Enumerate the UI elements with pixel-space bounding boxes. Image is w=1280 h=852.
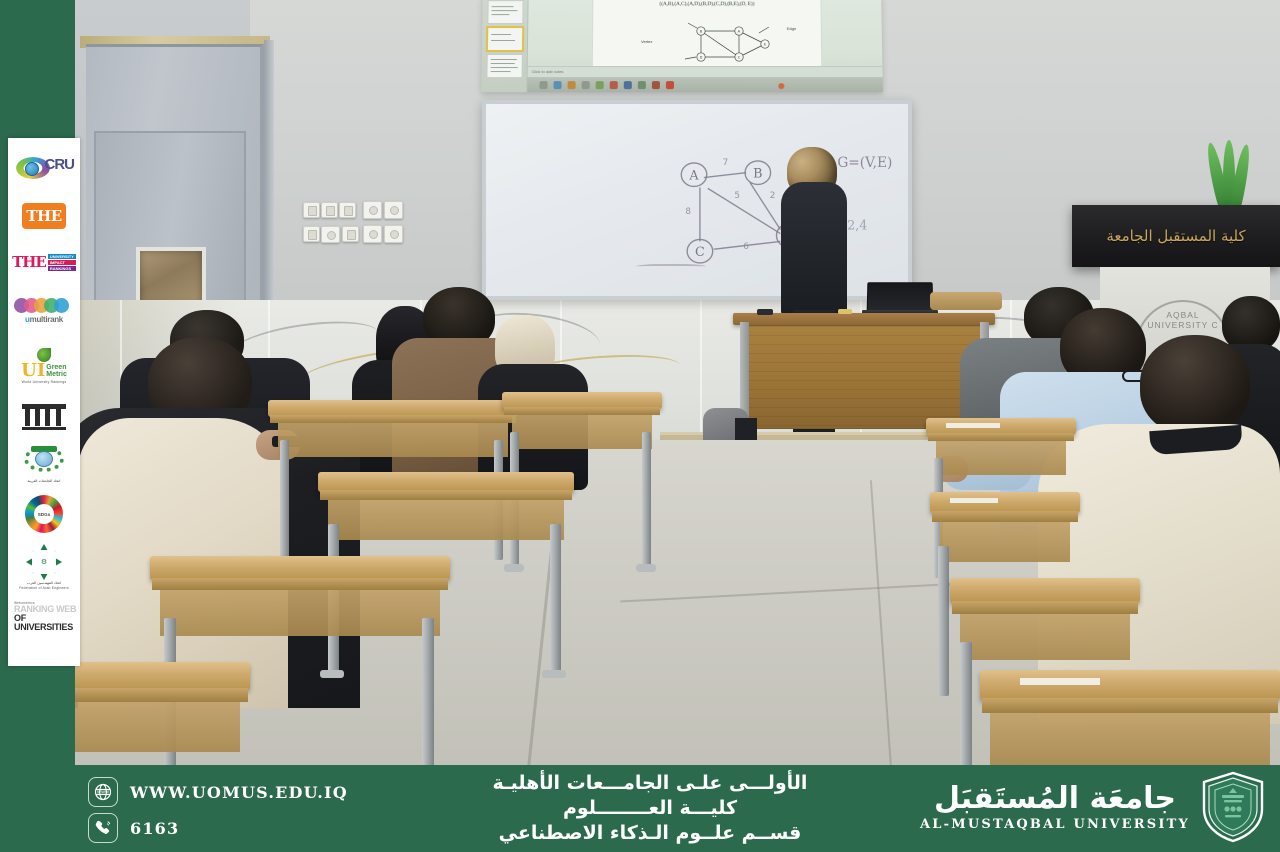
footer-phone-row[interactable]: 6163 [88, 813, 418, 843]
svg-text:8: 8 [685, 207, 691, 217]
sdg-wheel-logo: SDGs [10, 490, 78, 538]
svg-text:5: 5 [734, 191, 740, 201]
svg-text:6: 6 [743, 242, 749, 252]
desk-foot [636, 564, 656, 572]
instructor-torso [781, 182, 847, 317]
phone-icon [88, 813, 118, 843]
power-outlet-1[interactable] [363, 201, 382, 219]
desk-foot [320, 670, 344, 678]
student-desk[interactable] [502, 392, 662, 452]
student-desk[interactable] [318, 472, 574, 538]
desk-label-sticker [1020, 678, 1100, 685]
desk-leg [550, 524, 561, 674]
tagline-line-2: كليـــة العــــــــلوم [400, 796, 900, 821]
footer-banner: www WWW.UOMUS.EDU.IQ 6163 الأولـــى علـى… [0, 765, 1280, 852]
student-desk[interactable] [980, 670, 1280, 765]
power-outlet-5[interactable] [384, 225, 403, 243]
desk-top [150, 556, 450, 580]
svg-text:C: C [695, 245, 705, 260]
desk-apron [990, 713, 1270, 765]
slide-thumbnail[interactable] [487, 0, 523, 24]
student-desk[interactable] [268, 400, 518, 460]
desk-top [980, 670, 1280, 700]
desk-leg [280, 440, 289, 560]
desk-top [950, 578, 1140, 603]
desk-leg [938, 546, 949, 696]
svg-text:B: B [753, 167, 762, 182]
desk-apron [936, 441, 1066, 475]
marker-pen[interactable] [757, 309, 773, 315]
taskbar-icon[interactable] [652, 81, 660, 89]
powerpoint-status-bar: Click to add notes [528, 66, 883, 77]
u-multirank-logo: umultirank [10, 286, 78, 336]
svg-text:www: www [97, 790, 109, 796]
student-desk[interactable] [926, 418, 1076, 478]
svg-text:A: A [688, 169, 699, 184]
university-shield-icon [1200, 771, 1266, 843]
greenmetric-green-label: Green [46, 364, 67, 371]
svg-text:2: 2 [770, 191, 776, 201]
the-label: THE [26, 207, 61, 225]
desk-apron [512, 415, 652, 449]
power-outlet-3[interactable] [321, 226, 340, 243]
light-switch-plate-5[interactable] [342, 226, 359, 242]
federation-of-arab-engineers-logo: ⚙ اتحاد المهندسين العرب Federation of Ar… [10, 540, 78, 594]
brand-text-block: جامعَة المُستَقبَل AL-MUSTAQBAL UNIVERSI… [920, 782, 1190, 832]
columns-icon [22, 402, 66, 430]
desk-label-sticker [950, 498, 998, 503]
svg-text:2,4: 2,4 [847, 219, 867, 234]
podium-sign-text: كلية المستقبل الجامعة [1072, 205, 1280, 267]
slide-vertex-label: Vertex [641, 39, 652, 44]
wreath-globe-icon [22, 444, 66, 478]
current-slide: {(A,B),(A,C),(A,D),(B,D),(C,D),(B,E),(D,… [592, 0, 823, 72]
multirank-name: multirank [30, 315, 63, 324]
taskbar-icon[interactable] [624, 81, 632, 89]
tagline-line-3: قســم علــوم الـذكاء الاصطناعي [400, 821, 900, 846]
student-head [1140, 335, 1250, 435]
desk-apron [278, 423, 508, 457]
the-badge-icon: THE [22, 203, 66, 229]
slide-graph-diagram: BA DC E [593, 13, 824, 71]
svg-text:D: D [700, 55, 703, 59]
impact-line-2: IMPACT [48, 260, 76, 265]
taskbar-icon[interactable] [539, 81, 547, 89]
desk-leg [960, 642, 972, 765]
brand-name-arabic: جامعَة المُستَقبَل [920, 782, 1190, 816]
projector-screen: {(A,B),(A,C),(A,D),(B,D),(C,D),(B,E),(D,… [481, 0, 883, 92]
student-desk[interactable] [950, 578, 1140, 654]
desk-edge [928, 433, 1074, 441]
ui-greenmetric-logo: UI Green Metric World University Ranking… [10, 338, 78, 394]
podium-sign-board: كلية المستقبل الجامعة [1072, 205, 1280, 267]
student-desk[interactable] [930, 492, 1080, 558]
phone-label[interactable]: 6163 [130, 819, 179, 838]
taskbar-icon[interactable] [596, 81, 604, 89]
arab-engineers-label-ar: اتحاد المهندسين العرب [27, 581, 61, 585]
desk-top [318, 472, 574, 492]
instructor-desk-front [742, 325, 986, 429]
sdg-wheel-icon: SDGs [25, 495, 63, 533]
student-desk[interactable] [150, 556, 450, 630]
desk-label-sticker [946, 423, 1000, 428]
classroom-door[interactable] [86, 44, 264, 344]
desk-apron [328, 500, 564, 540]
footer-website-row[interactable]: www WWW.UOMUS.EDU.IQ [88, 777, 418, 807]
multirank-circles-icon [19, 298, 69, 313]
desk-edge [952, 601, 1138, 614]
impact-ranking-bars: UNIVERSITY IMPACT RANKINGS [48, 254, 76, 271]
impact-line-3: RANKINGS [48, 266, 76, 271]
taskbar-tray-icon[interactable] [778, 83, 784, 89]
power-outlet-4[interactable] [363, 225, 382, 243]
svg-text:G=(V,E): G=(V,E) [837, 155, 892, 171]
sdg-label: SDGs [38, 512, 51, 517]
whiteboard: A B C D 7 5 2 8 6 G=(V,E) 2,4 [482, 100, 912, 300]
taskbar-icon[interactable] [568, 81, 576, 89]
footer-university-brand: جامعَة المُستَقبَل AL-MUSTAQBAL UNIVERSI… [920, 771, 1266, 843]
taskbar-icon[interactable] [553, 81, 561, 89]
the-logo: THE [10, 194, 78, 238]
desk-apron [160, 590, 440, 636]
multirank-label: umultirank [25, 315, 63, 324]
greenmetric-subtitle: World University Rankings [22, 380, 67, 384]
arab-universities-association-logo: اتحاد الجامعات العربية [10, 438, 78, 488]
desk-edge [320, 490, 572, 500]
taskbar-icon[interactable] [582, 81, 590, 89]
ranking-web-line-2: OF UNIVERSITIES [14, 614, 78, 632]
website-label[interactable]: WWW.UOMUS.EDU.IQ [130, 783, 348, 802]
taskbar-icon[interactable] [610, 81, 618, 89]
globe-www-icon: www [88, 777, 118, 807]
desk-edge [504, 407, 660, 415]
desk-apron [960, 614, 1130, 660]
light-switch-plate-1[interactable] [303, 202, 320, 218]
notes-placeholder[interactable]: Click to add notes [532, 69, 564, 74]
desk-edge [270, 415, 516, 423]
slide-edge-set: {(A,B),(A,C),(A,D),(B,D),(C,D),(B,E),(D,… [593, 1, 820, 7]
desk-foot [504, 564, 524, 572]
desk-edge [152, 578, 448, 590]
desk-edge [932, 511, 1078, 522]
arab-engineers-label-en: Federation of Arab Engineers [19, 586, 69, 590]
light-switch-plate-2[interactable] [321, 202, 338, 218]
arab-universities-label: اتحاد الجامعات العربية [28, 479, 61, 483]
footer-tagline: الأولـــى علـى الجامـــعات الأهليـة كليـ… [400, 771, 900, 846]
seal-top-text: AQBAL UNIVERSITY C [1137, 310, 1229, 330]
door-jamb [264, 40, 274, 340]
brand-name-english: AL-MUSTAQBAL UNIVERSITY [920, 817, 1190, 832]
slide-thumbnail-selected[interactable] [487, 27, 523, 51]
slide-thumbnail-rail[interactable] [481, 0, 528, 92]
taskbar-icon[interactable] [638, 81, 646, 89]
cru-label: CRU [45, 156, 75, 173]
instructor-chair[interactable] [930, 292, 1002, 310]
power-outlet-2[interactable] [384, 201, 403, 219]
arab-engineers-star-icon: ⚙ [26, 544, 62, 580]
ui-label: UI [21, 363, 45, 379]
cru-logo: CRU [10, 144, 78, 192]
accreditation-logo-strip: CRU THE THE UNIVERSITY IMPACT RANKINGS [8, 138, 80, 666]
screenshot-root: {(A,B),(A,C),(A,D),(B,D),(C,D),(B,E),(D,… [0, 0, 1280, 852]
svg-text:7: 7 [723, 158, 729, 168]
desk-leg [422, 618, 434, 765]
the-impact-mark: THE [12, 253, 46, 271]
instructor-laptop-screen[interactable] [867, 282, 934, 312]
taskbar-icon[interactable] [666, 81, 674, 89]
slide-thumbnail[interactable] [486, 54, 522, 78]
desk-leg [642, 432, 651, 566]
light-switch-plate-3[interactable] [339, 202, 356, 218]
windows-taskbar[interactable] [527, 77, 882, 92]
footer-contact-block: www WWW.UOMUS.EDU.IQ 6163 [88, 777, 418, 849]
classical-building-logo [10, 396, 78, 436]
the-impact-rankings-logo: THE UNIVERSITY IMPACT RANKINGS [10, 240, 78, 284]
slide-edge-label: Edge [787, 26, 796, 31]
impact-line-1: UNIVERSITY [48, 254, 76, 259]
classroom-photo: {(A,B),(A,C),(A,D),(B,D),(C,D),(B,E),(D,… [0, 0, 1280, 765]
greenmetric-metric-label: Metric [46, 371, 67, 378]
desk-foot [542, 670, 566, 678]
ranking-web-of-universities-logo: Webometrics RANKING WEB OF UNIVERSITIES [10, 596, 78, 636]
light-switch-plate-4[interactable] [303, 226, 320, 242]
desk-item-yellow [838, 309, 852, 314]
tagline-line-1: الأولـــى علـى الجامـــعات الأهليـة [400, 771, 900, 796]
desk-edge [982, 698, 1278, 713]
desk-apron [940, 522, 1070, 562]
cru-globe-icon [25, 162, 39, 176]
whiteboard-scribble [636, 264, 706, 270]
